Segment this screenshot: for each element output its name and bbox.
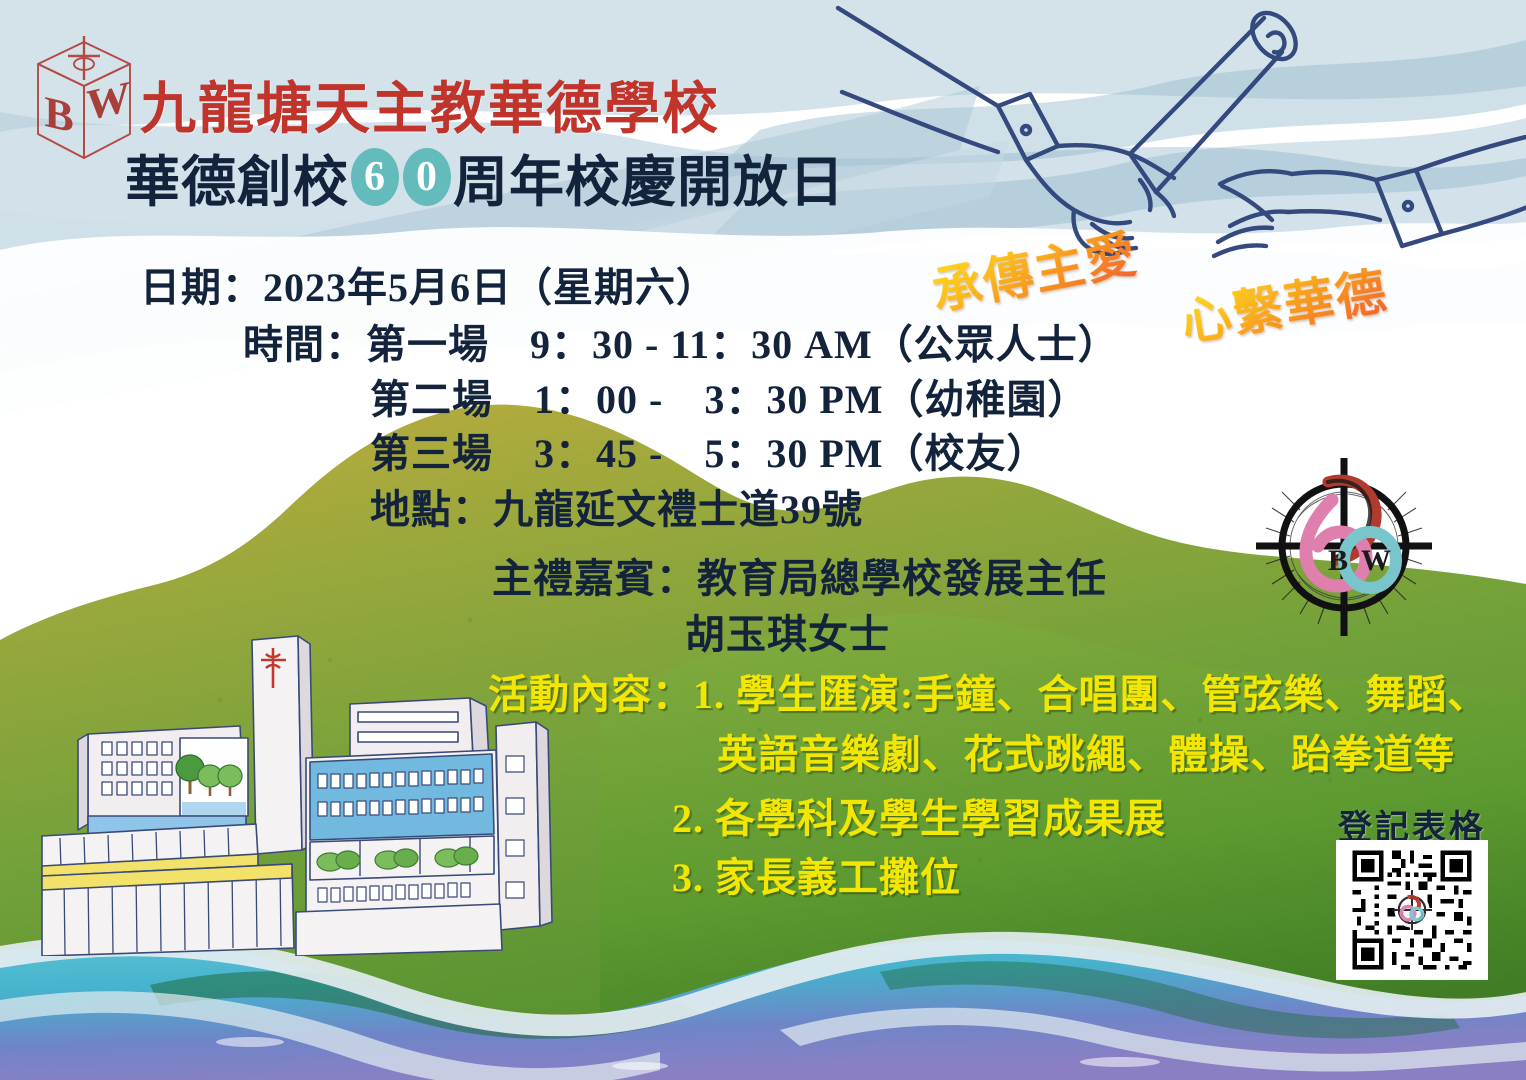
school-crest-logo: B W — [28, 34, 140, 166]
school-building-illustration — [30, 626, 575, 956]
page-title-school-name: 九龍塘天主教華德學校 — [140, 64, 720, 145]
anniversary-badge-6: 6 — [351, 148, 399, 206]
page-title-event: 華德創校 6 0 周年校慶開放日 — [125, 137, 845, 217]
event-time-line-1: 時間：第一場 9：30 - 11：30 AM（公眾人士） — [243, 312, 1119, 370]
event-time-line-2: 第二場 1：00 - 3：30 PM（幼稚園） — [370, 367, 1089, 425]
registration-qr-code[interactable] — [1336, 840, 1488, 980]
event-venue-line: 地點：九龍延文禮士道39號 — [370, 477, 863, 535]
event-title-suffix: 周年校慶開放日 — [453, 137, 845, 217]
activity-line-1a: 活動內容：1. 學生匯演:手鐘、合唱團、管弦樂、舞蹈、 — [488, 662, 1488, 720]
anniv-letter-b: B — [1328, 544, 1348, 577]
anniversary-badge-0: 0 — [403, 148, 451, 206]
guest-line-1: 主禮嘉賓：教育局總學校發展主任 — [492, 546, 1107, 604]
event-title-prefix: 華德創校 — [125, 137, 349, 217]
guest-line-2: 胡玉琪女士 — [685, 602, 890, 660]
event-time-line-3: 第三場 3：45 - 5：30 PM（校友） — [370, 421, 1048, 479]
activity-line-1b: 英語音樂劇、花式跳繩、體操、跆拳道等 — [717, 722, 1455, 780]
crest-letter-w: W — [86, 71, 130, 131]
hands-passing-scroll-illustration — [830, 0, 1526, 259]
crest-letter-b: B — [44, 86, 73, 142]
poster-canvas: B W 九龍塘天主教華德學校 華德創校 6 0 周年校慶開放日 承傳主愛 心繫華… — [0, 0, 1526, 1080]
anniv-letter-w: W — [1361, 544, 1391, 577]
event-date-line: 日期：2023年5月6日（星期六） — [140, 255, 717, 313]
activity-line-3: 3. 家長義工攤位 — [672, 845, 961, 903]
anniversary-60-logo: B W — [1246, 448, 1442, 644]
activity-line-2: 2. 各學科及學生學習成果展 — [672, 786, 1166, 844]
